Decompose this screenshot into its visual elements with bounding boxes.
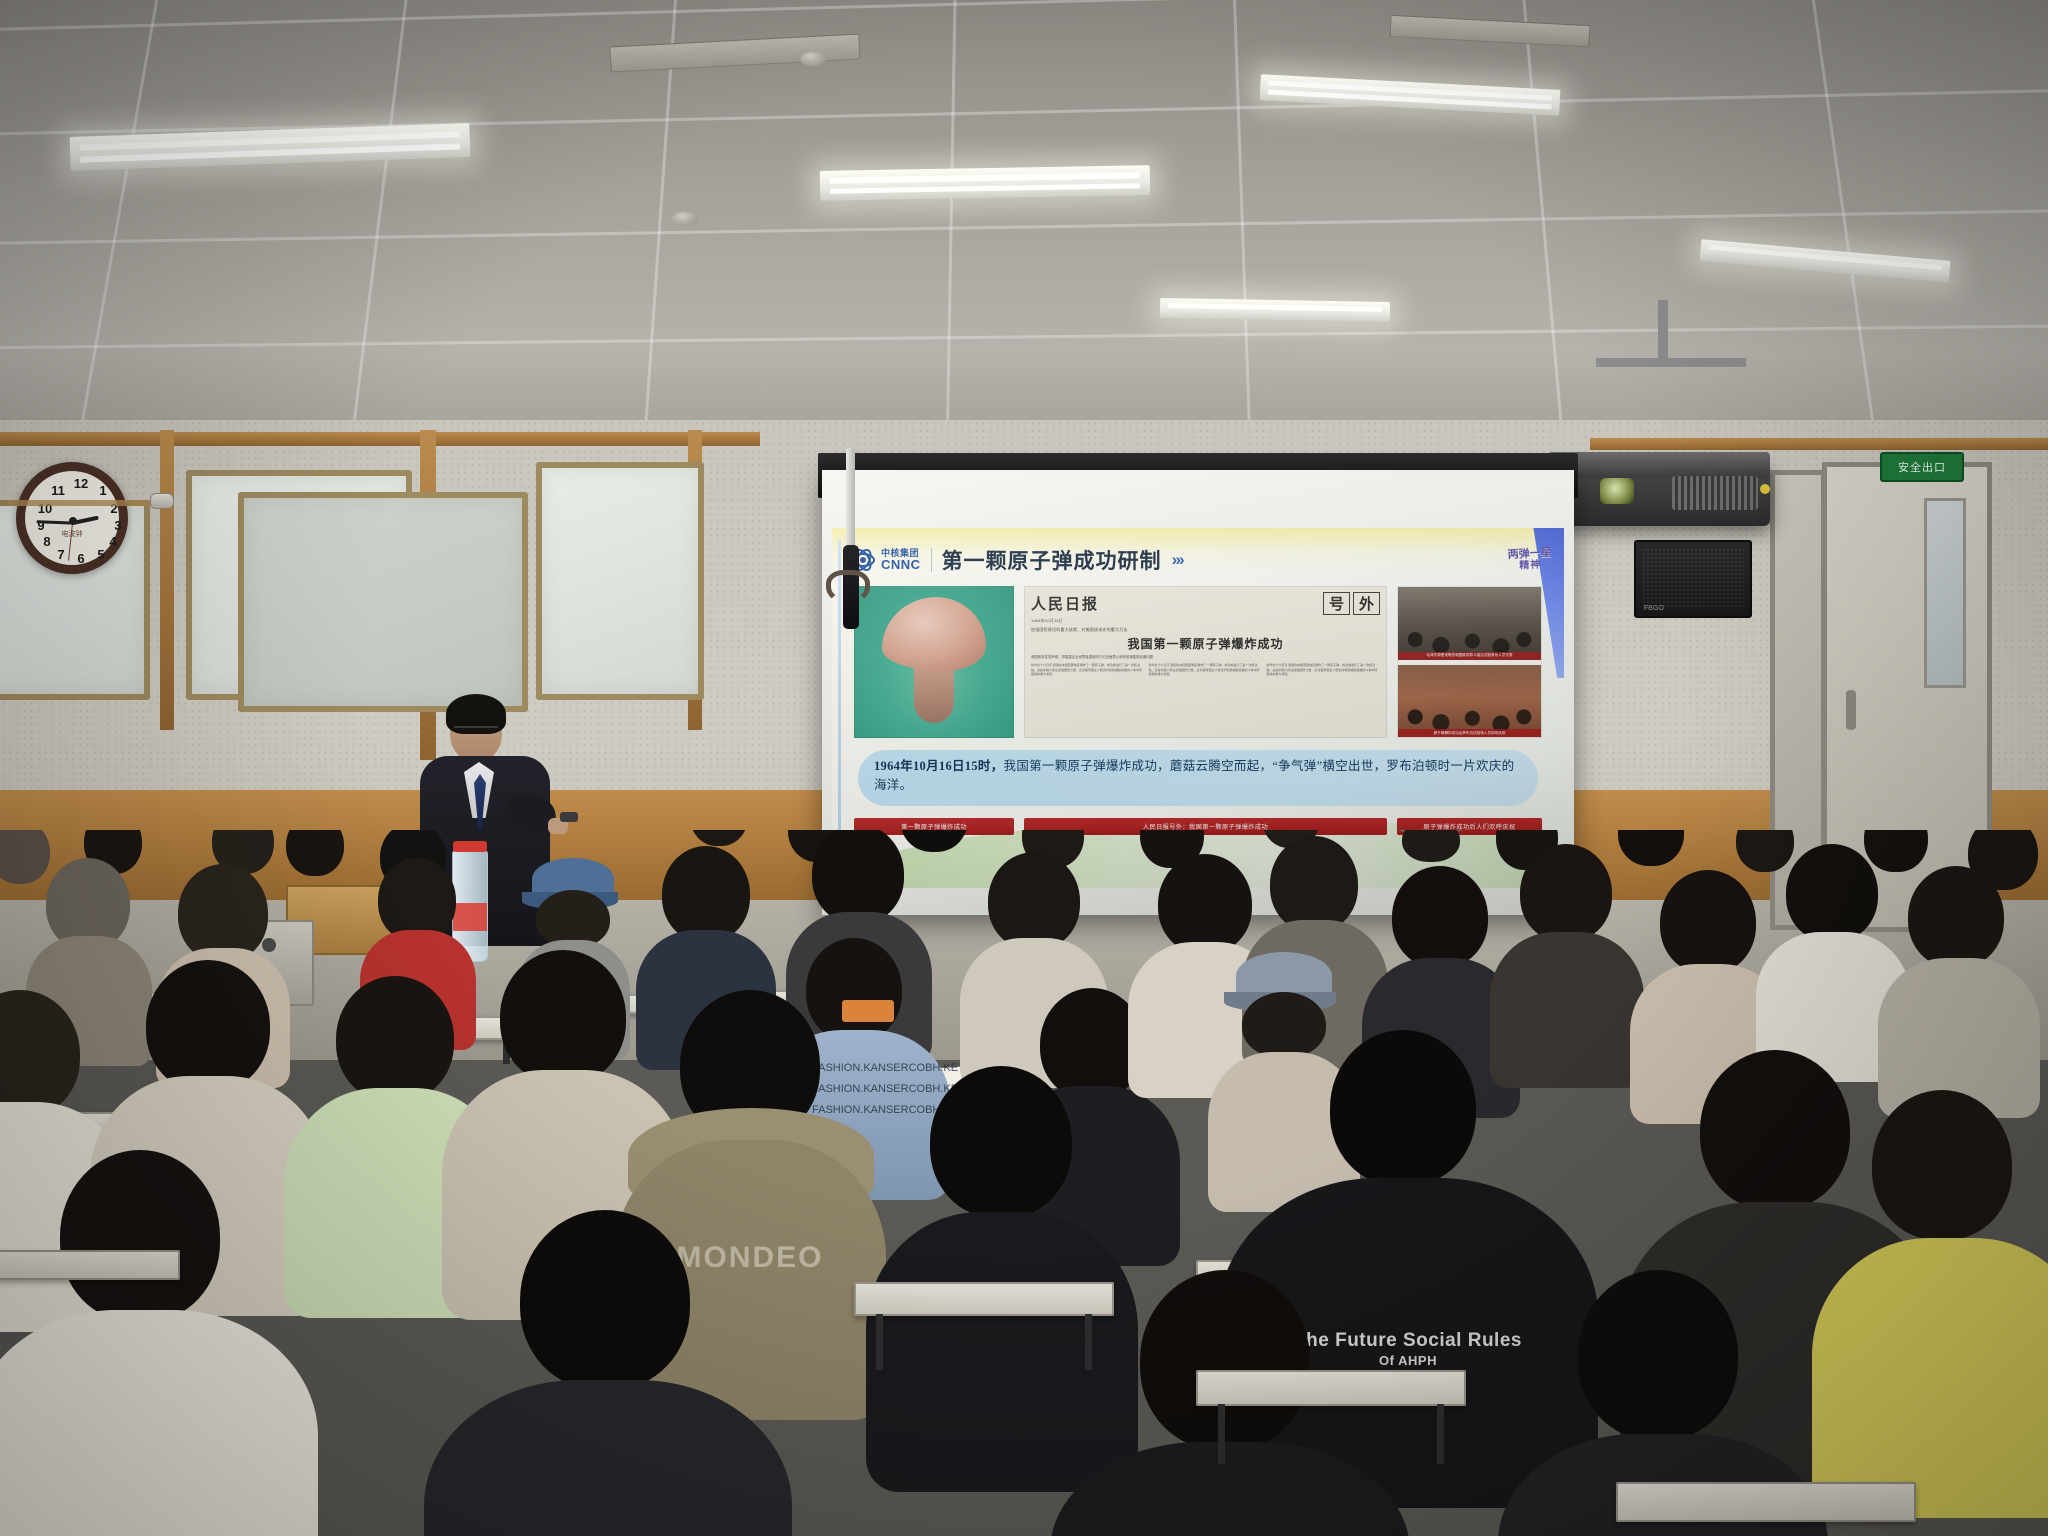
whiteboard-center (238, 492, 528, 712)
wall-clock: 12 1 2 3 4 5 6 7 8 9 10 11 电波钟 (16, 462, 128, 574)
ceiling-grid (0, 0, 2048, 470)
wall-trim (1590, 438, 2048, 450)
chevron-right-icon: »› (1172, 550, 1183, 570)
clock-brand: 电波钟 (62, 529, 83, 539)
wall-trim (0, 432, 760, 446)
newspaper-body-col-2: 新华社十六日讯 我国在本国西部地区爆炸了一颗原子弹，成功地进行了第一次核试验。这… (1149, 663, 1263, 677)
leaders-meeting-photo: 毛泽东周恩来等党和国家领导人接见试验有功人员代表 (1398, 587, 1541, 660)
newspaper-headline: 我国第一颗原子弹爆炸成功 (1031, 635, 1380, 652)
projector-mount-bar (1596, 358, 1746, 367)
exit-sign-label: 安全出口 (1898, 459, 1946, 475)
smoke-detector-icon (672, 212, 698, 226)
newspaper-subhead: 加强国防建设的重大成就，对美国核讹诈的重大打击 (1031, 627, 1380, 633)
newspaper-extra-char-2: 外 (1353, 592, 1380, 615)
slide-image-row: 人民日报 号 外 1964年10月16日 加强国防建设的重大成就，对美国核讹诈的… (854, 586, 1542, 738)
smoke-detector-icon (800, 52, 826, 66)
whiteboard-right (536, 462, 704, 700)
ceiling-light (1160, 298, 1390, 322)
wall-post (160, 430, 174, 730)
projector-body-top (1548, 452, 1770, 478)
newspaper-date: 1964年10月16日 (1031, 618, 1380, 624)
header-divider (931, 548, 932, 572)
newspaper-masthead: 人民日报 号 外 (1031, 592, 1380, 615)
speaker-label: FBGO (1644, 605, 1664, 612)
badge-line-2: 精神 (1508, 559, 1553, 572)
slide-title: 第一颗原子弹成功研制 (942, 545, 1162, 575)
ceiling-light (820, 165, 1150, 201)
slide-body-bold: 1964年10月16日15时， (874, 759, 1004, 773)
projector-mount (1658, 300, 1668, 366)
slide-body-text-band: 1964年10月16日15时，我国第一颗原子弹爆炸成功，蘑菇云腾空而起，“争气弹… (858, 750, 1538, 806)
newspaper-columns: 新华社十六日讯 我国在本国西部地区爆炸了一颗原子弹，成功地进行了第一次核试验。这… (1031, 663, 1380, 677)
desk-front (0, 1250, 180, 1280)
newspaper-extra-char-1: 号 (1323, 592, 1350, 615)
wall-speaker: FBGO (1634, 540, 1752, 618)
projector-indicator (1760, 484, 1770, 494)
photo-stack: 毛泽东周恩来等党和国家领导人接见试验有功人员代表 原子弹爆炸成功后罗布泊试验场人… (1397, 586, 1542, 738)
student-audience: FASHION.KANSERCOBH.KE FASHION.KANSERCOBH… (0, 830, 2048, 1536)
celebration-photo: 原子弹爆炸成功后罗布泊试验场人员欢呼庆祝 (1398, 665, 1541, 738)
desk-front (854, 1282, 1114, 1316)
projector-lens-icon (1600, 478, 1634, 504)
exit-sign: 安全出口 (1880, 452, 1964, 482)
newspaper-photo: 人民日报 号 外 1964年10月16日 加强国防建设的重大成就，对美国核讹诈的… (1024, 586, 1387, 738)
classroom-photo: 12 1 2 3 4 5 6 7 8 9 10 11 电波钟 安全出口 FBGO (0, 0, 2048, 1536)
leaders-photo-caption: 毛泽东周恩来等党和国家领导人接见试验有功人员代表 (1398, 652, 1541, 660)
ceiling (0, 0, 2048, 470)
celebration-photo-caption: 原子弹爆炸成功后罗布泊试验场人员欢呼庆祝 (1398, 729, 1541, 737)
slide-header: 中核集团 CNNC 第一颗原子弹成功研制 »› 两弹一星 精神 (850, 540, 1552, 580)
door-window (1924, 498, 1966, 688)
door-handle[interactable] (1846, 690, 1856, 730)
newspaper-body-col-1: 新华社十六日讯 我国在本国西部地区爆炸了一颗原子弹，成功地进行了第一次核试验。这… (1031, 663, 1145, 677)
two-bombs-one-satellite-badge: 两弹一星 精神 (1507, 547, 1552, 572)
mushroom-cloud-photo (854, 586, 1014, 738)
desk-front (1196, 1370, 1466, 1406)
newspaper-title: 人民日报 (1031, 593, 1099, 614)
mic-clip-icon (826, 570, 870, 604)
hanging-rod (846, 448, 855, 556)
newspaper-standfirst: 我国政府发表声明，郑重建议全世界各国政府讨论全面禁止和彻底销毁核武器问题 (1031, 655, 1380, 660)
presentation-clicker[interactable] (560, 812, 578, 822)
newspaper-extra-stamp: 号 外 (1323, 592, 1380, 615)
desk-front (1616, 1482, 1916, 1522)
jacket-print-mondeo: MONDEO (660, 1240, 840, 1276)
projector-vent (1672, 476, 1758, 510)
newspaper-body-col-3: 新华社十六日讯 我国在本国西部地区爆炸了一颗原子弹，成功地进行了第一次核试验。这… (1266, 663, 1380, 677)
cnnc-logo: 中核集团 CNNC (850, 547, 921, 573)
presenter-glasses-icon (454, 726, 498, 735)
security-camera-icon (150, 493, 174, 509)
cnnc-name-en: CNNC (881, 558, 921, 571)
clock-mount (8, 500, 158, 506)
